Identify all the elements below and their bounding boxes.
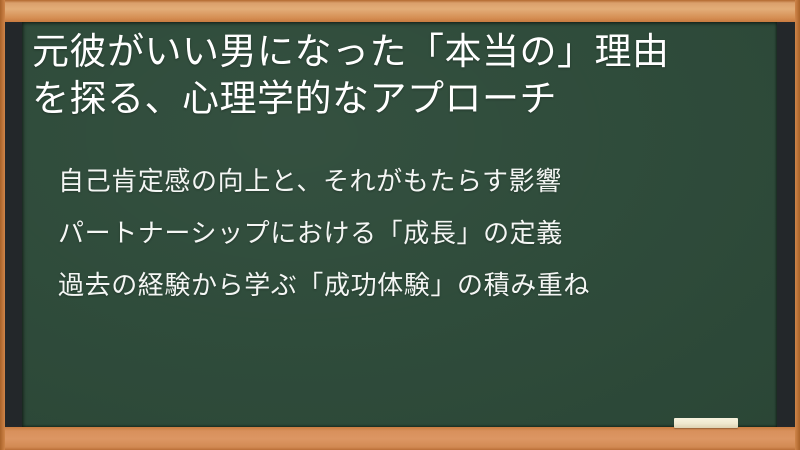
slide-title-line-1: 元彼がいい男になった「本当の」理由 <box>32 28 767 75</box>
bullet-list: 自己肯定感の向上と、それがもたらす影響 パートナーシップにおける「成長」の定義 … <box>58 156 758 312</box>
slide-title-line-2: を探る、心理学的なアプローチ <box>32 75 767 122</box>
frame-bottom-ledge <box>0 427 800 450</box>
frame-top-rail <box>0 0 800 22</box>
list-item: 自己肯定感の向上と、それがもたらす影響 <box>58 156 758 208</box>
chalkboard-surface: 元彼がいい男になった「本当の」理由 を探る、心理学的なアプローチ 自己肯定感の向… <box>22 22 777 427</box>
list-item: パートナーシップにおける「成長」の定義 <box>58 208 758 260</box>
frame-left-rail <box>0 0 5 450</box>
chalk-stick <box>674 418 738 428</box>
chalkboard-slide: 元彼がいい男になった「本当の」理由 を探る、心理学的なアプローチ 自己肯定感の向… <box>0 0 800 450</box>
frame-right-rail <box>795 0 800 450</box>
list-item: 過去の経験から学ぶ「成功体験」の積み重ね <box>58 260 758 312</box>
slide-title: 元彼がいい男になった「本当の」理由 を探る、心理学的なアプローチ <box>32 28 767 122</box>
